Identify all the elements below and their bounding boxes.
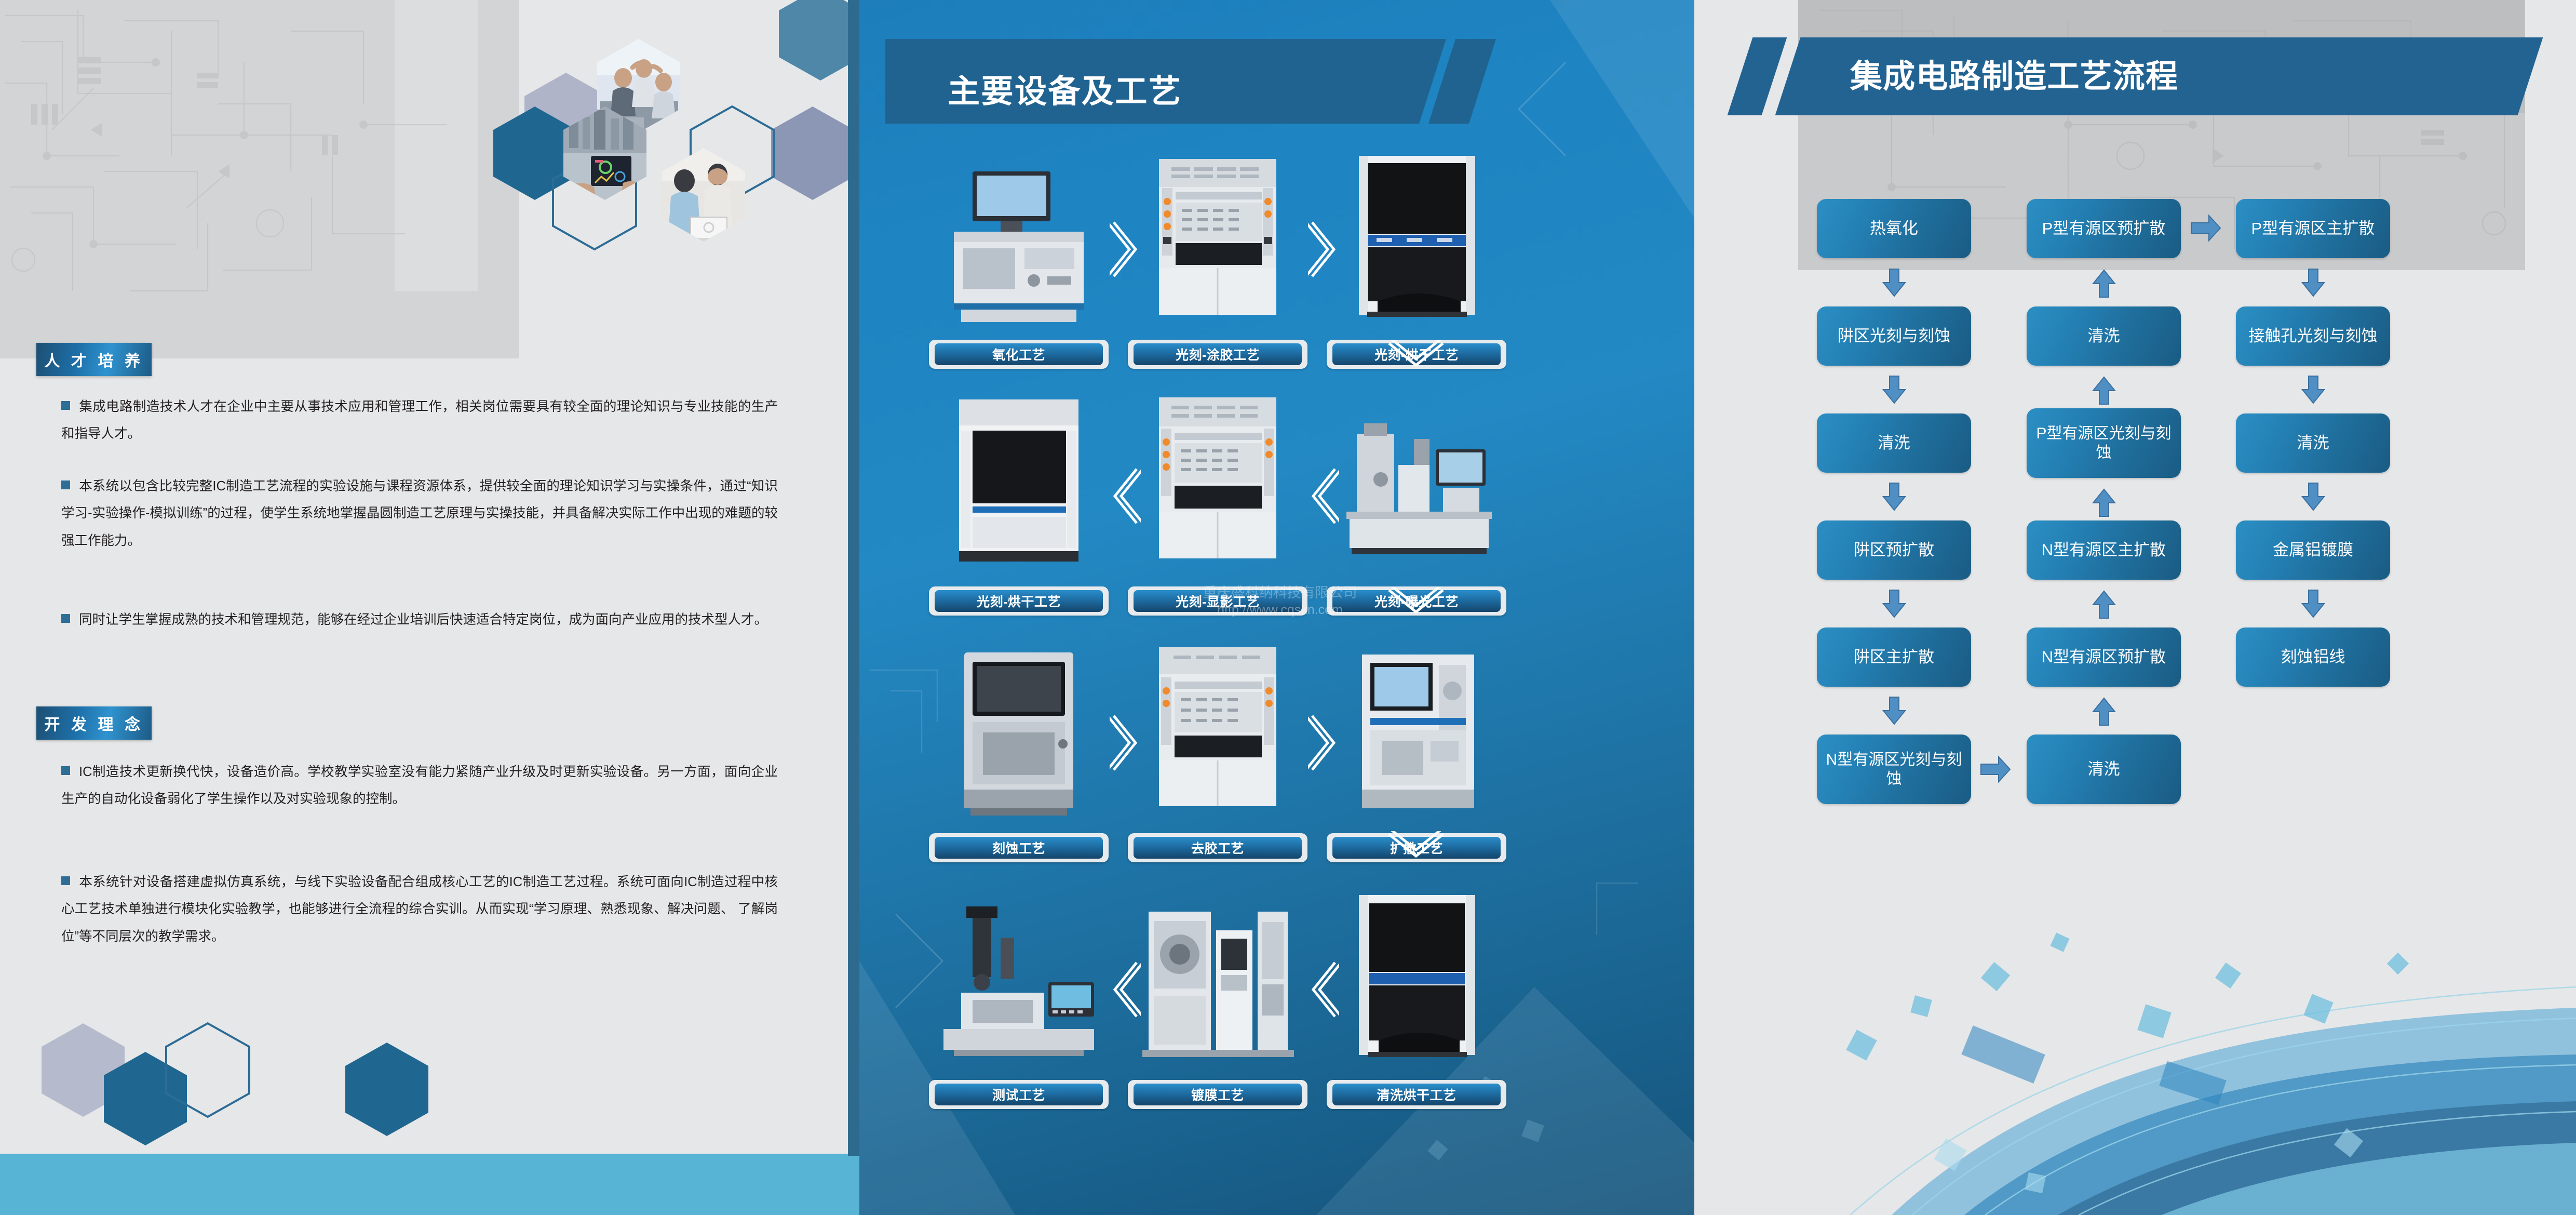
equipment-photo: [1320, 140, 1513, 332]
equipment-label-text: 氧化工艺: [935, 343, 1103, 365]
flow-box-c3-2[interactable]: 清洗: [2236, 413, 2390, 473]
paragraph-talent-2: 本系统以包含比较完整IC制造工艺流程的实验设施与课程资源体系，提供较全面的理论知…: [61, 473, 778, 554]
equipment-label: 光刻-显影工艺: [1128, 586, 1307, 616]
equipment-photo: [1320, 387, 1513, 579]
equipment-label: 测试工艺: [929, 1080, 1109, 1109]
equipment-card-9[interactable]: 测试工艺: [923, 880, 1115, 1109]
paragraph-concept-1: IC制造技术更新换代快，设备造价高。学校教学实验室没有能力紧随产业升级及时更新实…: [61, 758, 778, 813]
equipment-photo: [923, 634, 1115, 826]
header-slash-decoration: [1394, 39, 1534, 124]
arrow-up-icon: [2091, 375, 2117, 405]
arrow-down-icon: [1881, 589, 1907, 619]
flow-box-c3-1[interactable]: 接触孔光刻与刻蚀: [2236, 306, 2390, 366]
equipment-label: 镀膜工艺: [1128, 1080, 1307, 1109]
header-slash-decoration: [1728, 37, 1787, 115]
flow-box-c1-0[interactable]: 热氧化: [1817, 199, 1971, 258]
section-tag-concept: 开 发 理 念: [36, 706, 152, 740]
arrow-down-icon: [2300, 589, 2326, 619]
chevron-right-icon: [1110, 712, 1141, 774]
arrow-down-icon: [1881, 482, 1907, 512]
bullet-icon: [61, 876, 70, 885]
equipment-label-text: 光刻-涂胶工艺: [1134, 343, 1302, 365]
paragraph-talent-1: 集成电路制造技术人才在企业中主要从事技术应用和管理工作，相关岗位需要具有较全面的…: [61, 393, 778, 448]
flow-box-c2-0[interactable]: P型有源区预扩散: [2027, 199, 2181, 258]
chevron-right-icon: [1110, 218, 1141, 281]
flow-box-c1-3[interactable]: 阱区预扩散: [1817, 520, 1971, 580]
arrow-down-icon: [2300, 375, 2326, 405]
chevron-left-icon: [1308, 958, 1339, 1021]
flow-box-c1-1[interactable]: 阱区光刻与刻蚀: [1817, 306, 1971, 366]
right-panel: 集成电路制造工艺流程 热氧化 阱区光刻与刻蚀 清洗 阱区预扩散 阱区主扩散 N型…: [1694, 0, 2576, 1215]
equipment-label-text: 去胶工艺: [1134, 837, 1302, 859]
flow-box-c2-1[interactable]: 清洗: [2027, 306, 2181, 366]
equipment-card-5[interactable]: 光刻-曝光工艺: [1320, 387, 1513, 616]
left-panel: 人 才 培 养 开 发 理 念 集成电路制造技术人才在企业中主要从事技术应用和管…: [0, 0, 859, 1215]
equipment-card-1[interactable]: 光刻-涂胶工艺: [1122, 140, 1314, 369]
equipment-card-6[interactable]: 刻蚀工艺: [923, 634, 1115, 862]
chevron-left-icon: [1110, 958, 1141, 1021]
arrow-down-icon: [2300, 268, 2326, 298]
flow-box-c3-3[interactable]: 金属铝镀膜: [2236, 520, 2390, 580]
hexagon-cluster: [467, 0, 859, 374]
bullet-icon: [61, 766, 70, 775]
section-tag-talent: 人 才 培 养: [36, 343, 152, 376]
arrow-down-icon: [2300, 482, 2326, 512]
arrow-down-icon: [1881, 268, 1907, 298]
bullet-icon: [61, 480, 70, 489]
middle-header-bar: 主要设备及工艺: [885, 39, 1405, 124]
arrow-up-icon: [2091, 487, 2117, 517]
equipment-photo: [923, 140, 1115, 332]
bullet-icon: [61, 401, 70, 410]
paragraph-text: IC制造技术更新换代快，设备造价高。学校教学实验室没有能力紧随产业升级及时更新实…: [61, 765, 778, 806]
chevron-down-icon: [1385, 587, 1447, 619]
paragraph-talent-3: 同时让学生掌握成熟的技术和管理规范，能够在经过企业培训后快速适合特定岗位，成为面…: [61, 606, 778, 633]
equipment-label-text: 镀膜工艺: [1134, 1084, 1302, 1105]
flow-box-c2-3[interactable]: N型有源区主扩散: [2027, 520, 2181, 580]
equipment-label: 清洗烘干工艺: [1327, 1080, 1506, 1109]
equipment-label: 去胶工艺: [1128, 833, 1307, 862]
right-panel-title: 集成电路制造工艺流程: [1850, 50, 2178, 97]
paragraph-text: 本系统针对设备搭建虚拟仿真系统，与线下实验设备配合组成核心工艺的IC制造工艺过程…: [61, 875, 778, 944]
equipment-label: 光刻-涂胶工艺: [1128, 340, 1307, 369]
middle-panel: 主要设备及工艺 氧化工艺: [859, 0, 1694, 1215]
arrow-up-icon: [2091, 589, 2117, 619]
equipment-label-text: 光刻-烘干工艺: [935, 590, 1103, 612]
flow-box-c2-2[interactable]: P型有源区光刻与刻蚀: [2027, 408, 2181, 478]
equipment-label-text: 刻蚀工艺: [935, 837, 1103, 859]
arrow-down-icon: [1881, 375, 1907, 405]
equipment-label-text: 清洗烘干工艺: [1332, 1084, 1501, 1105]
paragraph-text: 集成电路制造技术人才在企业中主要从事技术应用和管理工作，相关岗位需要具有较全面的…: [61, 399, 778, 441]
equipment-label: 刻蚀工艺: [929, 833, 1109, 862]
paragraph-text: 同时让学生掌握成熟的技术和管理规范，能够在经过企业培训后快速适合特定岗位，成为面…: [79, 612, 767, 627]
equipment-card-2[interactable]: 光刻-烘干工艺: [1320, 140, 1513, 369]
equipment-label-text: 光刻-显影工艺: [1134, 590, 1302, 612]
bullet-icon: [61, 614, 70, 623]
equipment-photo: [1320, 880, 1513, 1073]
paragraph-text: 本系统以包含比较完整IC制造工艺流程的实验设施与课程资源体系，提供较全面的理论知…: [61, 479, 778, 548]
flow-box-c3-0[interactable]: P型有源区主扩散: [2236, 199, 2390, 258]
equipment-photo: [1122, 140, 1314, 332]
equipment-card-7[interactable]: 去胶工艺: [1122, 634, 1314, 862]
equipment-label: 氧化工艺: [929, 340, 1109, 369]
chevron-left-icon: [1110, 465, 1141, 527]
equipment-photo: [1122, 880, 1314, 1073]
arrow-up-icon: [2091, 268, 2117, 298]
equipment-card-3[interactable]: 光刻-烘干工艺: [923, 387, 1115, 616]
chevron-down-icon: [1385, 831, 1447, 863]
equipment-card-11[interactable]: 清洗烘干工艺: [1320, 880, 1513, 1109]
equipment-card-4[interactable]: 光刻-显影工艺: [1122, 387, 1314, 616]
left-bottom-bar: [0, 1154, 859, 1215]
equipment-photo: [1122, 387, 1314, 579]
paragraph-concept-2: 本系统针对设备搭建虚拟仿真系统，与线下实验设备配合组成核心工艺的IC制造工艺过程…: [61, 869, 778, 950]
equipment-card-10[interactable]: 镀膜工艺: [1122, 880, 1314, 1109]
equipment-photo: [923, 387, 1115, 579]
equipment-card-0[interactable]: 氧化工艺: [923, 140, 1115, 369]
arrow-right-icon: [2190, 213, 2222, 243]
chevron-right-icon: [1308, 712, 1339, 774]
chevron-right-icon: [1308, 218, 1339, 281]
flow-box-c1-2[interactable]: 清洗: [1817, 413, 1971, 473]
middle-panel-title: 主要设备及工艺: [948, 65, 1182, 112]
equipment-label: 光刻-烘干工艺: [929, 586, 1109, 616]
circuit-pattern-icon: [0, 0, 457, 332]
equipment-photo: [1122, 634, 1314, 826]
equipment-photo: [923, 880, 1115, 1073]
equipment-photo: [1320, 634, 1513, 826]
equipment-card-8[interactable]: 扩撒工艺: [1320, 634, 1513, 862]
equipment-label-text: 测试工艺: [935, 1084, 1103, 1105]
left-right-edge: [848, 0, 859, 1156]
chevron-left-icon: [1308, 465, 1339, 527]
bottom-hexagon-cluster: [10, 1018, 633, 1158]
wave-decoration: [1694, 675, 2576, 1215]
chevron-down-icon: [1385, 340, 1447, 372]
